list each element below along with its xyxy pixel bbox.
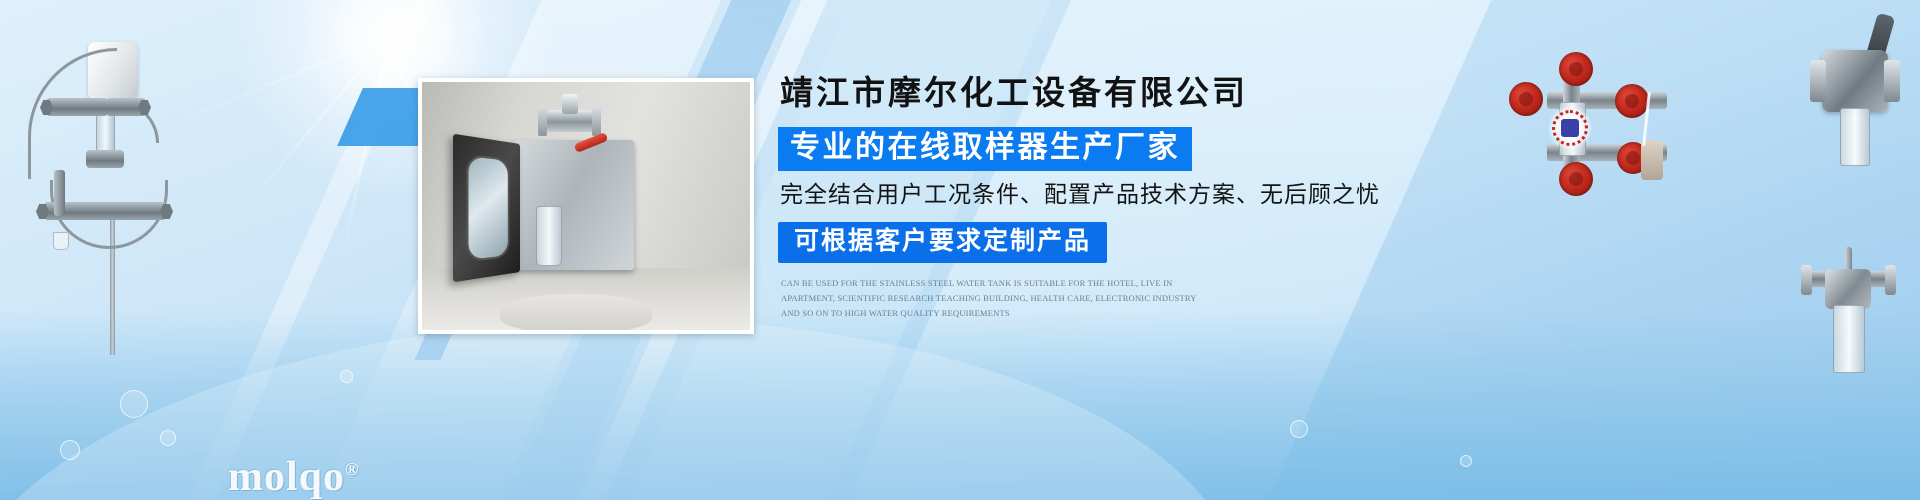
watermark-logo: molqo® [228,456,359,498]
valve-flange [1810,60,1826,102]
valve-block [106,202,166,220]
valve-handwheel [1615,84,1649,118]
watermark-logo-text: molqo [228,454,345,500]
headline-row: 专业的在线取样器生产厂家 [778,127,1418,171]
bubble-decoration [160,430,176,446]
sample-bottle [53,232,69,250]
bubble-decoration [340,370,353,383]
valve-body [1825,269,1871,309]
sun-ray-decoration [340,35,391,261]
valve-body [1822,50,1888,112]
product-photo-inner [422,82,750,330]
sampler-cabinet [514,140,634,270]
registered-mark-icon: ® [345,459,359,479]
seal-core [1561,119,1579,137]
valve-flange [592,106,601,136]
valve-flange [538,106,547,136]
sight-glass [1840,108,1870,166]
right-product-sight-valve [1805,255,1915,405]
photo-pedestal [500,294,652,330]
company-name: 靖江市摩尔化工设备有限公司 [780,78,1418,111]
valve-flange [1884,60,1900,102]
sample-bottle [536,206,562,266]
product-photo [418,78,754,334]
sub-headline: 完全结合用户工况条件、配置产品技术方案、无后顾之忧 [780,183,1418,206]
bubble-decoration [1290,420,1308,438]
pressure-relief-valve [54,170,65,216]
right-product-lever-valve [1808,22,1908,182]
sight-glass [1833,305,1865,373]
custom-product-badge: 可根据客户要求定制产品 [778,222,1107,263]
banner-text-block: 靖江市摩尔化工设备有限公司 专业的在线取样器生产厂家 完全结合用户工况条件、配置… [778,78,1418,321]
valve-flange [1885,265,1896,295]
valve-block [46,98,108,116]
headline-highlight: 专业的在线取样器生产厂家 [778,127,1192,171]
actuator-body [1641,140,1663,180]
valve-handwheel [1559,162,1593,196]
bubble-decoration [120,390,148,418]
door-window [466,154,509,262]
certification-seal [1548,106,1592,150]
bubble-decoration [1460,455,1472,467]
valve-handwheel [1559,52,1593,86]
sampler-valve-head [532,96,608,148]
cabinet-door [453,134,520,283]
valve-handwheel [1509,82,1543,116]
valve-flange [1801,265,1812,295]
right-product-cross-manifold [1495,40,1755,190]
badge-row: 可根据客户要求定制产品 [778,222,1418,263]
valve-block [86,150,124,168]
bubble-decoration [60,440,80,460]
promo-banner: 靖江市摩尔化工设备有限公司 专业的在线取样器生产厂家 完全结合用户工况条件、配置… [0,0,1920,500]
english-description: CAN BE USED FOR THE STAINLESS STEEL WATE… [781,276,1199,321]
left-product-image [10,20,210,350]
valve-cap [562,94,578,114]
